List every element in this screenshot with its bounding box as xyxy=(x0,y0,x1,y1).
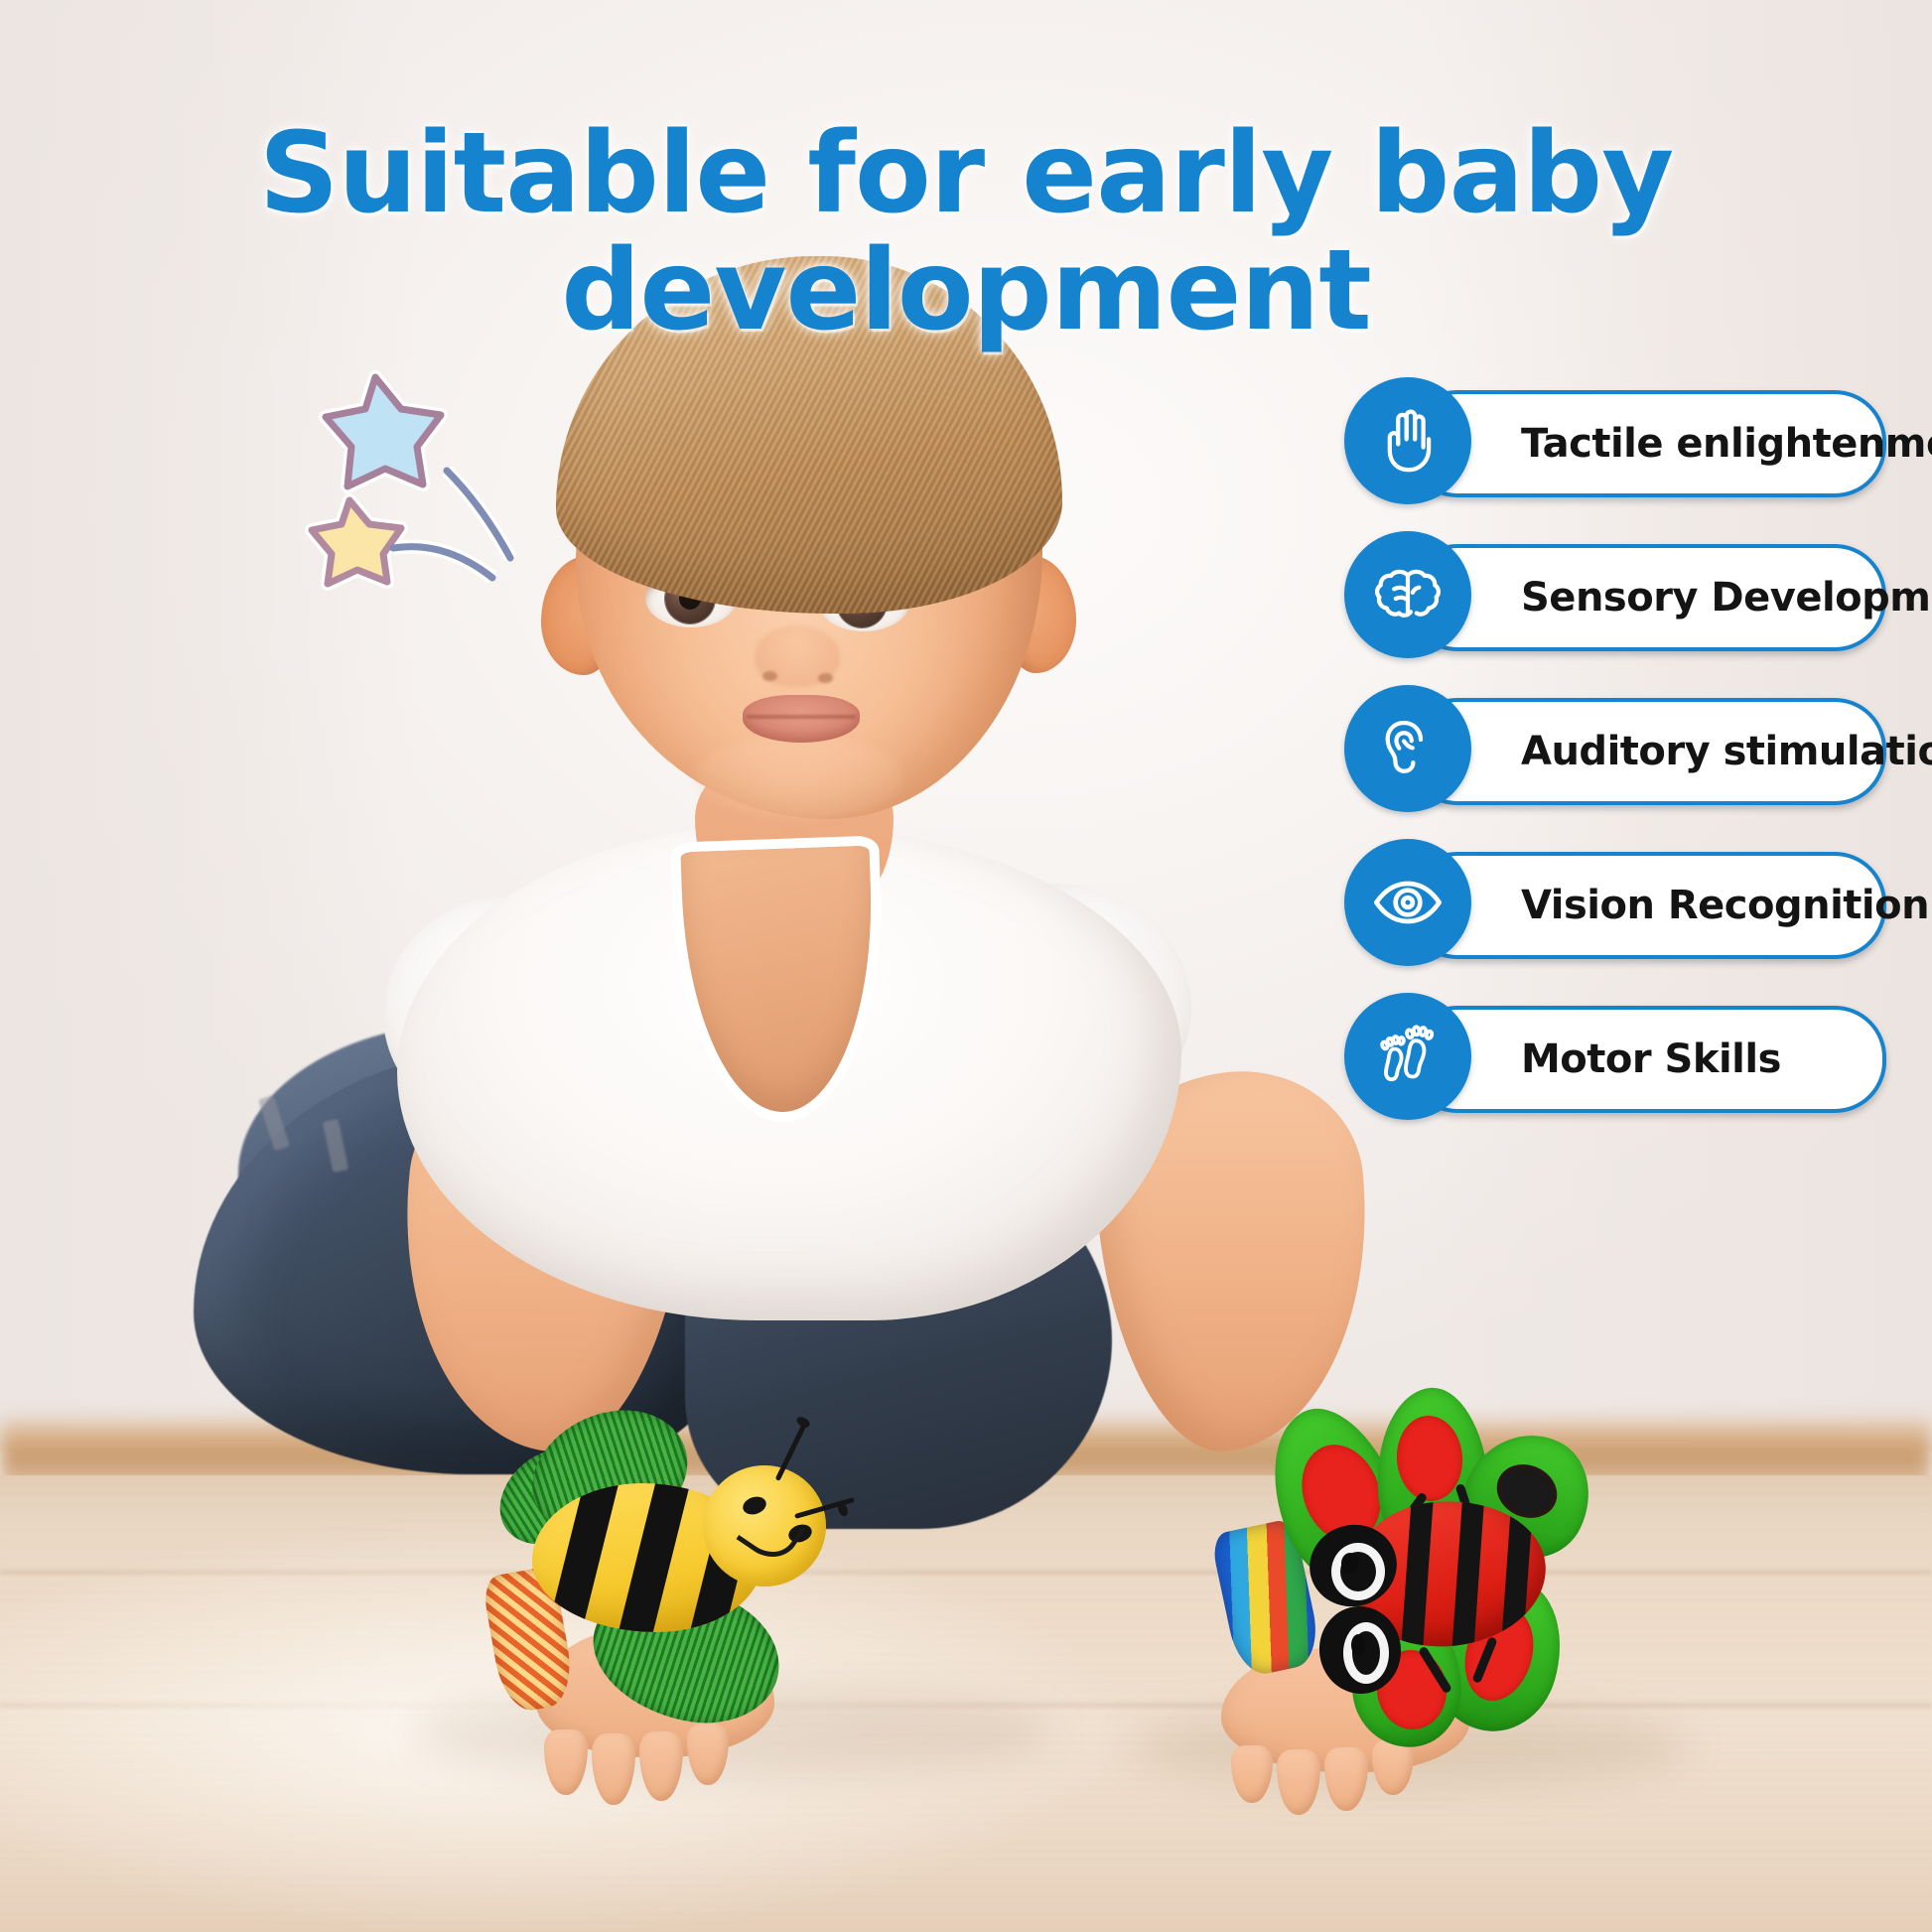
infographic-poster: Suitable for early baby development Tact… xyxy=(0,0,1932,1932)
footprints-icon xyxy=(1368,1017,1448,1096)
baby-nostril-right xyxy=(818,673,833,683)
feature-item-sensory-development[interactable]: Sensory Development xyxy=(1344,531,1920,658)
feature-pill[interactable]: Tactile enlightenment xyxy=(1406,390,1886,497)
finger xyxy=(544,1729,588,1795)
finger xyxy=(1324,1747,1368,1811)
feature-badge xyxy=(1344,839,1471,966)
baby-lip-line xyxy=(747,715,856,719)
hand-icon xyxy=(1369,402,1447,480)
feature-badge xyxy=(1344,685,1471,812)
ladybug-stripe xyxy=(1399,1491,1436,1656)
feature-badge xyxy=(1344,377,1471,504)
ladybug-eye-ring xyxy=(1331,1543,1385,1600)
feature-pill[interactable]: Auditory stimulation xyxy=(1406,698,1886,805)
ladybug-pupil xyxy=(1341,1553,1359,1574)
baby-chin xyxy=(695,735,903,820)
title-line-1: Suitable for early baby xyxy=(0,118,1932,229)
decorative-stars-group xyxy=(298,365,556,604)
ladybug-wrist-rattle-toy xyxy=(1286,1410,1593,1737)
feature-label: Tactile enlightenment xyxy=(1521,421,1932,467)
brain-icon xyxy=(1369,556,1447,633)
baby-nostril-left xyxy=(762,671,777,681)
ear-icon xyxy=(1369,710,1447,787)
feature-label: Motor Skills xyxy=(1521,1036,1781,1082)
finger xyxy=(1277,1749,1320,1815)
ladybug-pupil xyxy=(1351,1634,1365,1656)
ladybug-eye-ring xyxy=(1343,1622,1389,1684)
feature-item-auditory-stimulation[interactable]: Auditory stimulation xyxy=(1344,685,1920,812)
stars-illustration xyxy=(298,365,556,604)
feature-item-tactile-enlightenment[interactable]: Tactile enlightenment xyxy=(1344,377,1920,504)
feature-label: Sensory Development xyxy=(1521,575,1932,621)
baby-mouth xyxy=(743,695,860,743)
finger xyxy=(592,1733,635,1805)
bee-stripe xyxy=(611,1483,694,1632)
feature-label: Vision Recognition xyxy=(1521,883,1929,928)
feature-badge xyxy=(1344,531,1471,658)
feature-list: Tactile enlightenment Sensory Developmen… xyxy=(1344,377,1920,1147)
feature-pill[interactable]: Vision Recognition xyxy=(1406,852,1886,959)
finger xyxy=(639,1731,683,1801)
feature-pill[interactable]: Motor Skills xyxy=(1406,1006,1886,1113)
feature-item-motor-skills[interactable]: Motor Skills xyxy=(1344,993,1920,1120)
feature-item-vision-recognition[interactable]: Vision Recognition xyxy=(1344,839,1920,966)
feature-pill[interactable]: Sensory Development xyxy=(1406,544,1886,651)
finger xyxy=(1231,1745,1273,1803)
title-line-2: development xyxy=(0,235,1932,346)
page-title: Suitable for early baby development xyxy=(0,118,1932,346)
feature-badge xyxy=(1344,993,1471,1120)
eye-icon xyxy=(1368,863,1448,942)
bee-wrist-rattle-toy xyxy=(508,1420,826,1718)
ladybug-stripe xyxy=(1449,1491,1486,1656)
feature-label: Auditory stimulation xyxy=(1521,729,1932,774)
